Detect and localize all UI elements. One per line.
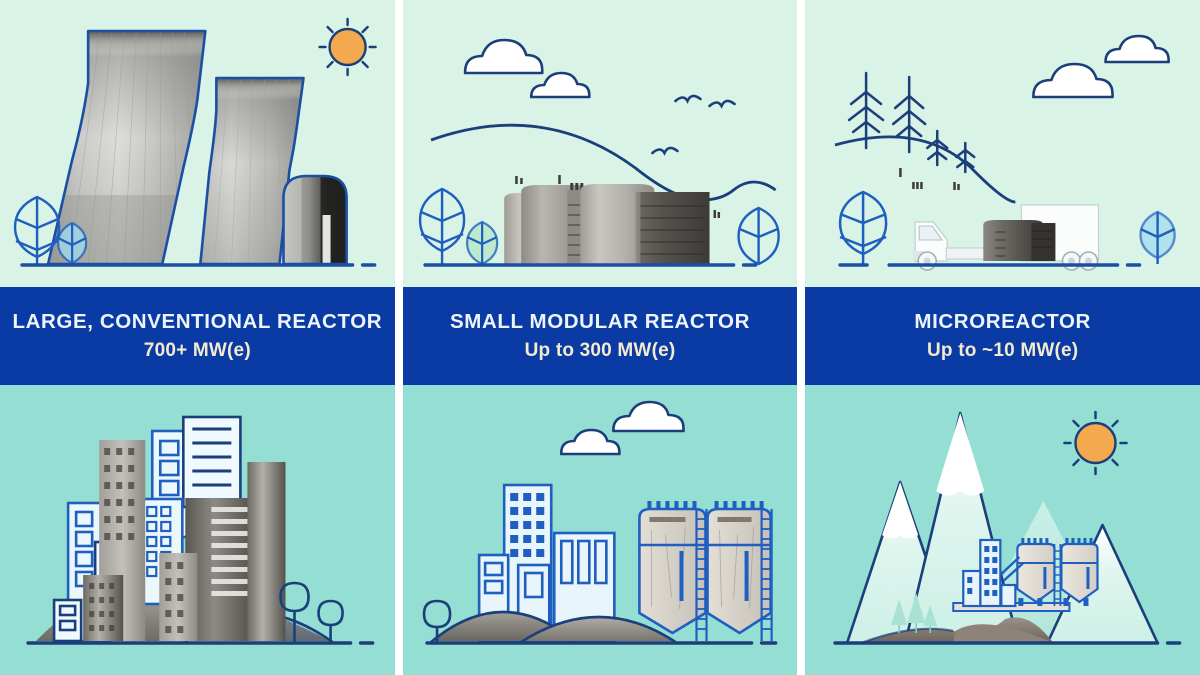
cloud-2 [1106, 36, 1169, 62]
cloud-large [465, 40, 542, 73]
tree-small [467, 222, 497, 264]
scene-city-skyline [0, 385, 395, 675]
reactor-comparison-infographic: LARGE, CONVENTIONAL REACTOR 700+ MW(e) [0, 0, 1200, 675]
sun-icon [1065, 412, 1127, 474]
cloud-1 [1034, 64, 1113, 97]
panel-capacity: 700+ MW(e) [144, 340, 251, 362]
scene-modular-reactor-site [403, 0, 798, 287]
tree-right [738, 208, 778, 264]
small-building-outline [54, 600, 81, 641]
microreactor-module [984, 220, 1056, 261]
scene-industrial-site [403, 385, 798, 675]
bird-2 [709, 101, 734, 106]
scene-nuclear-power-plant [0, 0, 395, 287]
label-band-small-modular-reactor: SMALL MODULAR REACTOR Up to 300 MW(e) [403, 287, 798, 385]
panel-title: SMALL MODULAR REACTOR [450, 310, 750, 334]
storage-tank-1 [1018, 538, 1055, 602]
cloud-small [531, 73, 589, 97]
panel-capacity: Up to ~10 MW(e) [927, 340, 1078, 362]
tree-right [1141, 212, 1175, 264]
panel-capacity: Up to 300 MW(e) [525, 340, 676, 362]
panel-title: MICROREACTOR [914, 310, 1091, 334]
storage-tank-2 [1062, 538, 1098, 602]
bird-3 [652, 148, 677, 153]
reactor-containment-dome [283, 176, 348, 268]
cloud-2 [561, 430, 619, 454]
reactor-module-tank-3 [580, 184, 709, 264]
tree-large [420, 189, 464, 264]
panel-microreactor: MICROREACTOR Up to ~10 MW(e) [805, 0, 1200, 675]
scene-remote-mountain-site [805, 385, 1200, 675]
scene-reactor-transport [805, 0, 1200, 287]
highrise-building-photo-4 [159, 553, 197, 641]
bird-1 [675, 96, 700, 101]
detail-marks [900, 168, 961, 190]
label-band-microreactor: MICROREACTOR Up to ~10 MW(e) [805, 287, 1200, 385]
label-band-large-conventional-reactor: LARGE, CONVENTIONAL REACTOR 700+ MW(e) [0, 287, 395, 385]
panel-small-modular-reactor: SMALL MODULAR REACTOR Up to 300 MW(e) [403, 0, 798, 675]
tree-left [840, 192, 886, 264]
cloud-1 [613, 402, 683, 431]
highrise-building-photo-3 [83, 575, 123, 641]
panel-title: LARGE, CONVENTIONAL REACTOR [13, 310, 383, 334]
sun-icon [320, 19, 376, 75]
office-tower-outline-3 [183, 417, 240, 507]
panel-large-conventional-reactor: LARGE, CONVENTIONAL REACTOR 700+ MW(e) [0, 0, 395, 675]
